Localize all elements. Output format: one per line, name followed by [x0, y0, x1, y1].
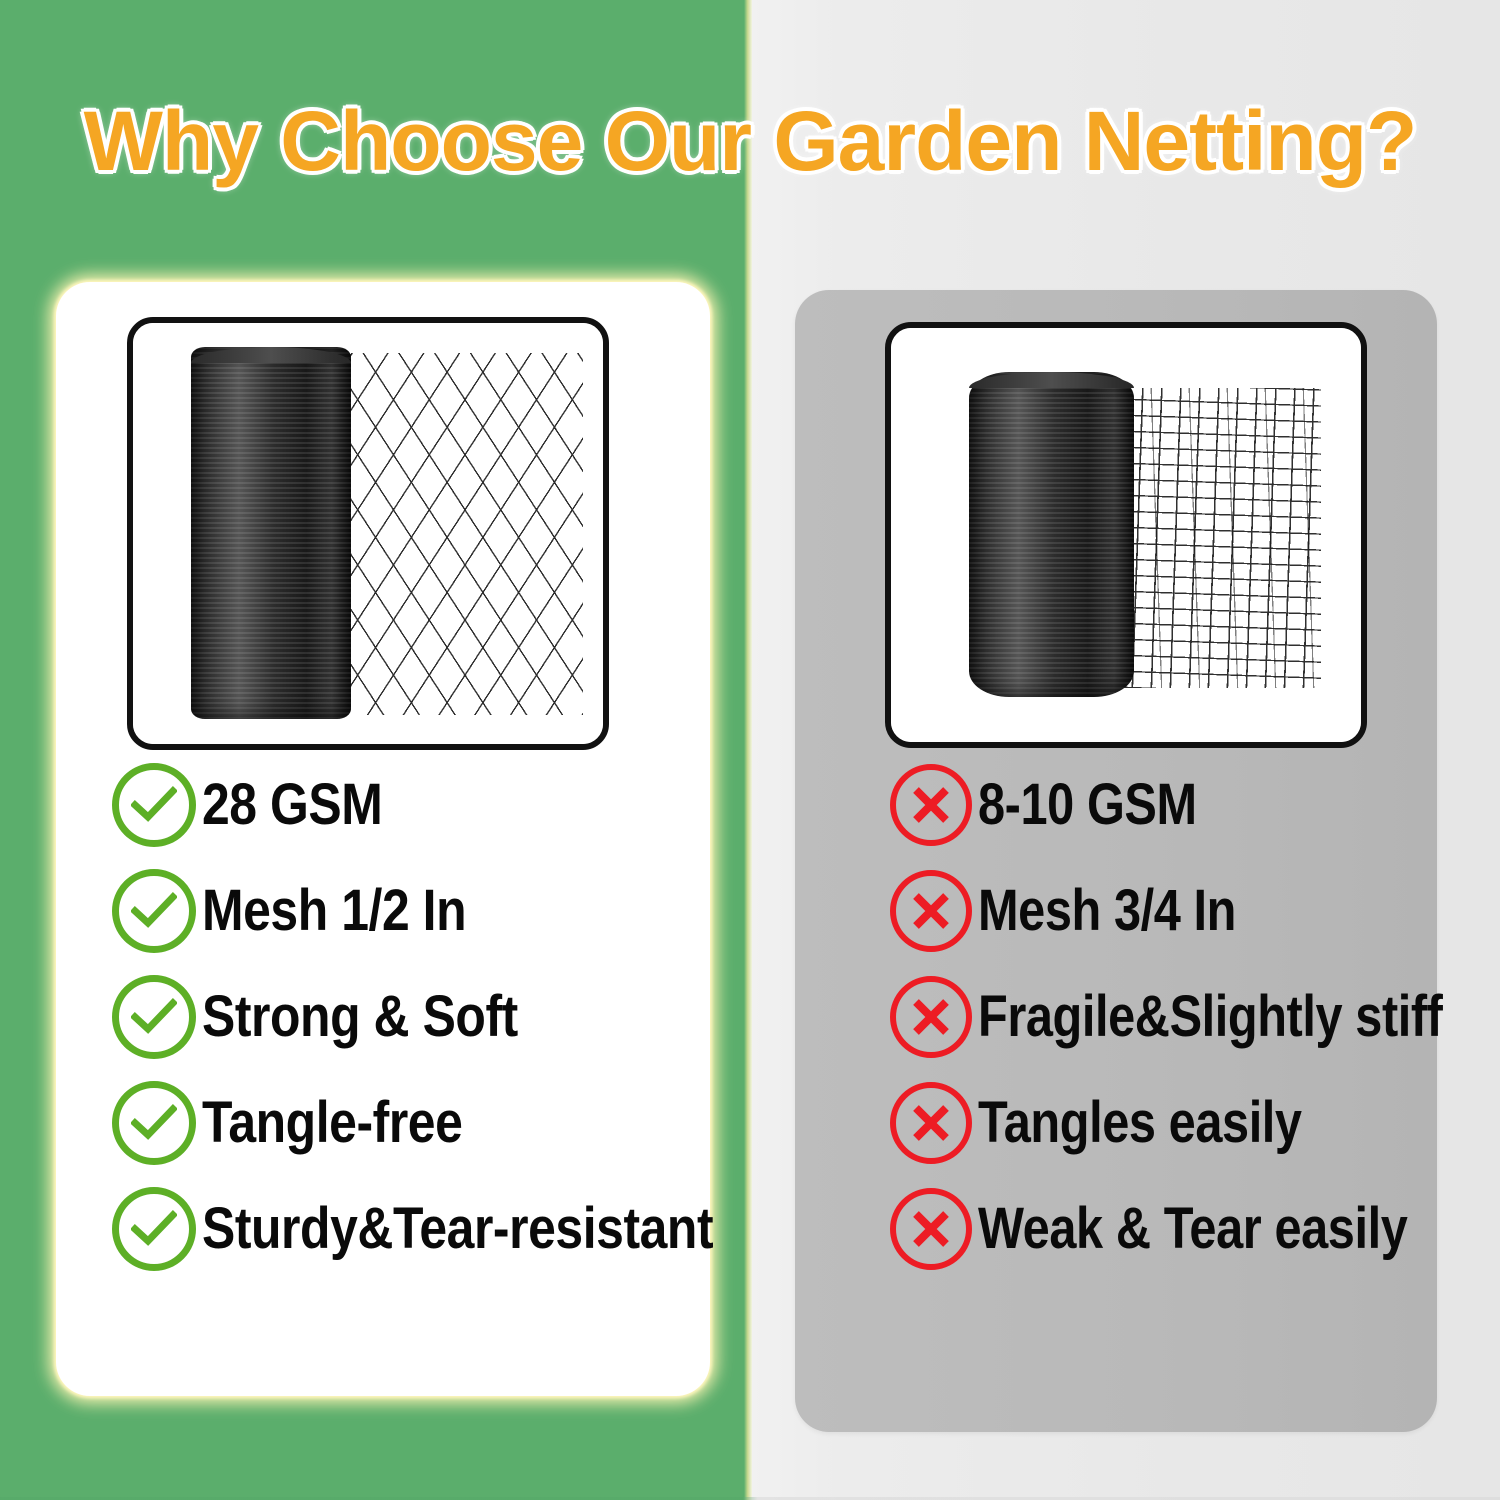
feature-label: Tangles easily — [978, 1093, 1302, 1153]
list-item: Mesh 3/4 In — [890, 858, 1450, 964]
diamond-mesh-texture — [347, 353, 583, 715]
list-item: Sturdy&Tear-resistant — [112, 1176, 712, 1282]
feature-label: Strong & Soft — [202, 987, 518, 1047]
list-item: 28 GSM — [112, 752, 712, 858]
list-item: Tangle-free — [112, 1070, 712, 1176]
check-circle-icon — [112, 869, 196, 953]
x-circle-icon — [890, 870, 972, 952]
feature-label: Mesh 3/4 In — [978, 881, 1236, 941]
list-item: Mesh 1/2 In — [112, 858, 712, 964]
x-circle-icon — [890, 764, 972, 846]
feature-label: Weak & Tear easily — [978, 1199, 1407, 1259]
good-feature-list: 28 GSM Mesh 1/2 In Strong & Soft Tangle-… — [112, 752, 712, 1282]
netting-roll — [191, 347, 351, 719]
check-circle-icon — [112, 763, 196, 847]
bad-product-photo — [891, 328, 1361, 742]
feature-label: 28 GSM — [202, 775, 382, 835]
roll-top-edge — [191, 347, 351, 363]
list-item: Weak & Tear easily — [890, 1176, 1450, 1282]
check-circle-icon — [112, 1187, 196, 1271]
list-item: 8-10 GSM — [890, 752, 1450, 858]
x-circle-icon — [890, 1188, 972, 1270]
feature-label: Mesh 1/2 In — [202, 881, 466, 941]
infographic-canvas: Why Choose Our Garden Netting? 28 GSM Me… — [0, 0, 1500, 1500]
list-item: Tangles easily — [890, 1070, 1450, 1176]
square-mesh-texture — [1123, 388, 1321, 688]
feature-label: Tangle-free — [202, 1093, 462, 1153]
good-product-image-frame — [127, 317, 609, 750]
feature-label: 8-10 GSM — [978, 775, 1197, 835]
panel-divider — [744, 0, 752, 1500]
good-product-photo — [133, 323, 603, 744]
page-title: Why Choose Our Garden Netting? — [0, 95, 1500, 187]
check-circle-icon — [112, 975, 196, 1059]
x-circle-icon — [890, 1082, 972, 1164]
roll-top-edge — [969, 372, 1134, 388]
bad-product-image-frame — [885, 322, 1367, 748]
check-circle-icon — [112, 1081, 196, 1165]
feature-label: Fragile&Slightly stiff — [978, 987, 1442, 1047]
list-item: Fragile&Slightly stiff — [890, 964, 1450, 1070]
bad-feature-list: 8-10 GSM Mesh 3/4 In Fragile&Slightly st… — [890, 752, 1450, 1282]
feature-label: Sturdy&Tear-resistant — [202, 1199, 713, 1259]
list-item: Strong & Soft — [112, 964, 712, 1070]
netting-roll — [969, 372, 1134, 697]
x-circle-icon — [890, 976, 972, 1058]
